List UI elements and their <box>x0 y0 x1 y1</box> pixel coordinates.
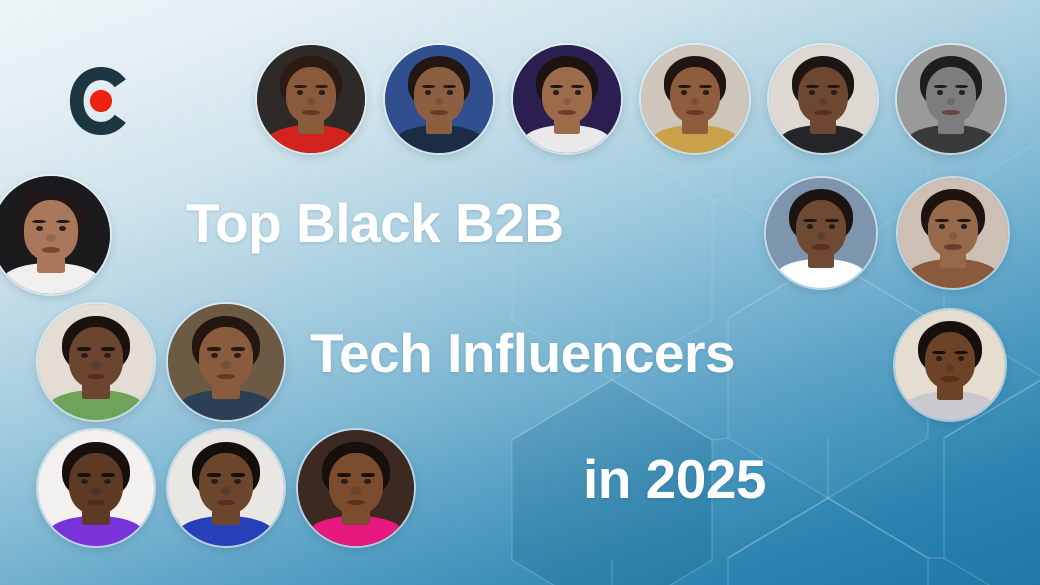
photo-eyebrow-right <box>101 473 115 477</box>
avatar-woman-long-wavy-hair[interactable] <box>898 178 1008 288</box>
photo-eye-left <box>81 479 88 484</box>
photo-eye-left <box>36 226 43 231</box>
avatar-woman-pink-top-smiling[interactable] <box>298 430 414 546</box>
photo-mouth <box>942 110 959 115</box>
photo-eye-right <box>575 90 581 95</box>
photo-eye-right <box>59 226 66 231</box>
headline-line-1: Top Black B2B <box>186 192 564 254</box>
photo-eye-right <box>104 479 111 484</box>
avatar-woman-short-hair-blue-bg[interactable] <box>385 45 493 153</box>
avatar-man-beard-chain-smiling[interactable] <box>895 310 1005 420</box>
photo-eye-right <box>234 479 241 484</box>
avatar-photo <box>898 178 1008 288</box>
avatar-man-glasses-suit-purple[interactable] <box>38 430 154 546</box>
avatar-man-beard-white-shirt[interactable] <box>766 178 876 288</box>
logo-red-dot <box>90 90 112 112</box>
photo-nose <box>91 361 100 369</box>
avatar-photo <box>257 45 365 153</box>
photo-eye-right <box>234 353 241 358</box>
photo-eyebrow-left <box>207 473 221 477</box>
avatar-photo <box>0 176 110 294</box>
photo-eyebrow-right <box>231 347 245 351</box>
avatar-woman-braids-red-top[interactable] <box>257 45 365 153</box>
avatar-man-beard-bookshelf[interactable] <box>168 304 284 420</box>
avatar-photo <box>38 430 154 546</box>
avatar-woman-gold-necklace[interactable] <box>641 45 749 153</box>
photo-nose <box>221 487 230 495</box>
avatar-photo <box>513 45 621 153</box>
photo-eyebrow-right <box>361 473 375 477</box>
avatar-photo <box>641 45 749 153</box>
avatar-man-bw-portrait[interactable] <box>897 45 1005 153</box>
photo-mouth <box>558 110 575 115</box>
avatar-photo <box>38 304 154 420</box>
promo-banner: Top Black B2B Tech Influencers in 2025 <box>0 0 1040 585</box>
photo-eyebrow-left <box>803 219 816 223</box>
photo-eye-right <box>364 479 371 484</box>
photo-mouth <box>42 247 61 253</box>
photo-eyebrow-right <box>231 473 245 477</box>
headline-line-2: Tech Influencers <box>310 322 735 384</box>
avatar-photo <box>385 45 493 153</box>
photo-eye-right <box>447 90 453 95</box>
photo-mouth <box>814 110 831 115</box>
photo-nose <box>221 361 230 369</box>
avatar-man-dark-bg-white-tee[interactable] <box>0 176 110 294</box>
photo-mouth <box>430 110 447 115</box>
avatar-photo <box>769 45 877 153</box>
photo-eye-left <box>211 353 218 358</box>
photo-nose <box>817 232 826 240</box>
letter-c-with-red-dot-logo[interactable] <box>64 64 138 138</box>
photo-mouth <box>812 244 830 250</box>
photo-eyebrow-right <box>825 219 838 223</box>
photo-nose <box>46 234 55 242</box>
photo-eye-left <box>211 479 218 484</box>
avatar-young-man-blue-blazer[interactable] <box>168 430 284 546</box>
headline-line-3: in 2025 <box>583 448 766 510</box>
photo-mouth <box>686 110 703 115</box>
avatar-photo <box>168 304 284 420</box>
photo-eyebrow-left <box>77 347 91 351</box>
photo-mouth <box>302 110 319 115</box>
photo-eyebrow-right <box>954 351 967 355</box>
hexagon-fill-large <box>512 380 712 585</box>
avatar-man-glasses-bald[interactable] <box>769 45 877 153</box>
avatar-photo <box>766 178 876 288</box>
photo-eyebrow-left <box>935 219 948 223</box>
photo-eyebrow-right <box>101 347 115 351</box>
avatar-photo <box>895 310 1005 420</box>
photo-nose <box>91 487 100 495</box>
photo-eye-right <box>959 90 965 95</box>
avatar-photo <box>298 430 414 546</box>
photo-eyebrow-left <box>932 351 945 355</box>
photo-eyebrow-left <box>77 473 91 477</box>
photo-eye-right <box>831 90 837 95</box>
avatar-man-glasses-plaid-shirt[interactable] <box>38 304 154 420</box>
photo-eye-left <box>341 479 348 484</box>
photo-mouth <box>944 244 962 250</box>
avatar-photo <box>897 45 1005 153</box>
photo-eyebrow-left <box>207 347 221 351</box>
photo-eyebrow-right <box>957 219 970 223</box>
photo-eye-right <box>104 353 111 358</box>
avatar-man-smiling-suit-purple-bg[interactable] <box>513 45 621 153</box>
photo-mouth <box>941 376 959 382</box>
avatar-photo <box>168 430 284 546</box>
photo-nose <box>949 232 958 240</box>
photo-nose <box>351 487 360 495</box>
photo-eyebrow-left <box>337 473 351 477</box>
photo-eye-left <box>81 353 88 358</box>
photo-nose <box>946 364 955 372</box>
photo-eye-right <box>319 90 325 95</box>
photo-eye-right <box>703 90 709 95</box>
